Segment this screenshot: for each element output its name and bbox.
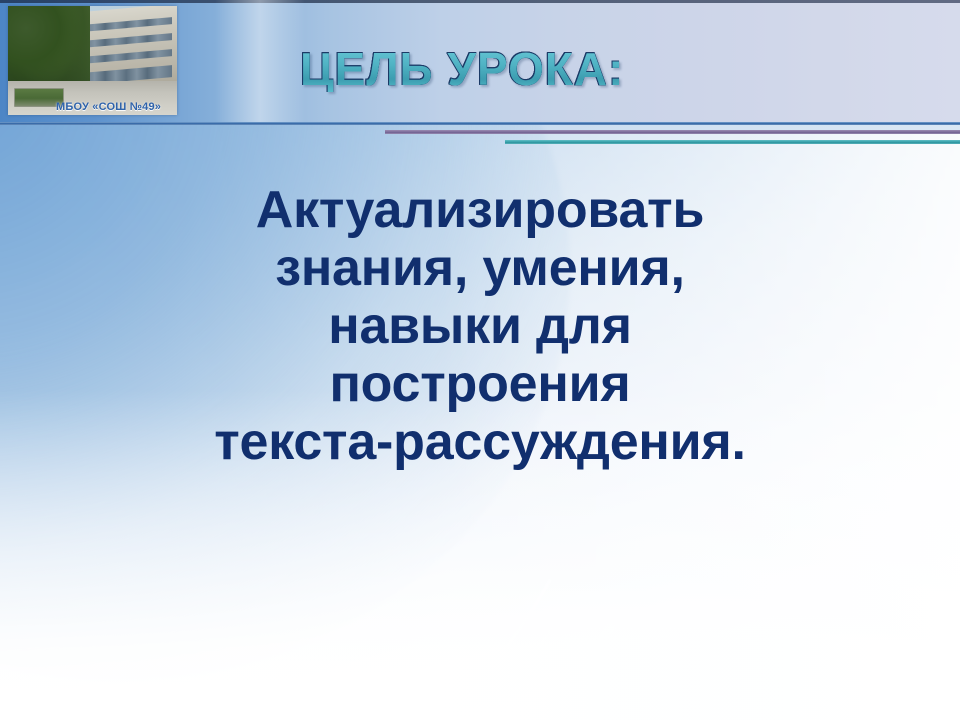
body-line: знания, умения, <box>60 240 900 298</box>
divider-rule-blue <box>0 122 960 125</box>
divider-rule-purple <box>385 130 960 134</box>
body-line: навыки для <box>60 298 900 356</box>
divider-rule-teal <box>505 140 960 144</box>
body-line: построения <box>60 356 900 414</box>
photo-trees <box>8 6 90 90</box>
photo-window-row <box>84 17 172 32</box>
header-top-edge <box>0 0 960 3</box>
header-sheen <box>215 0 305 124</box>
slide-title: ЦЕЛЬ УРОКА: <box>300 46 625 92</box>
school-name-caption: МБОУ «СОШ №49» <box>56 101 161 113</box>
photo-school-building <box>78 6 177 90</box>
school-photo: МБОУ «СОШ №49» <box>8 6 177 115</box>
presentation-slide: МБОУ «СОШ №49» ЦЕЛЬ УРОКА: Актуализирова… <box>0 0 960 720</box>
body-line: Актуализировать <box>60 182 900 240</box>
body-line: текста-рассуждения. <box>60 414 900 472</box>
slide-body-text: Актуализировать знания, умения, навыки д… <box>60 182 900 472</box>
photo-window-row <box>84 49 172 64</box>
photo-window-row <box>84 33 172 48</box>
